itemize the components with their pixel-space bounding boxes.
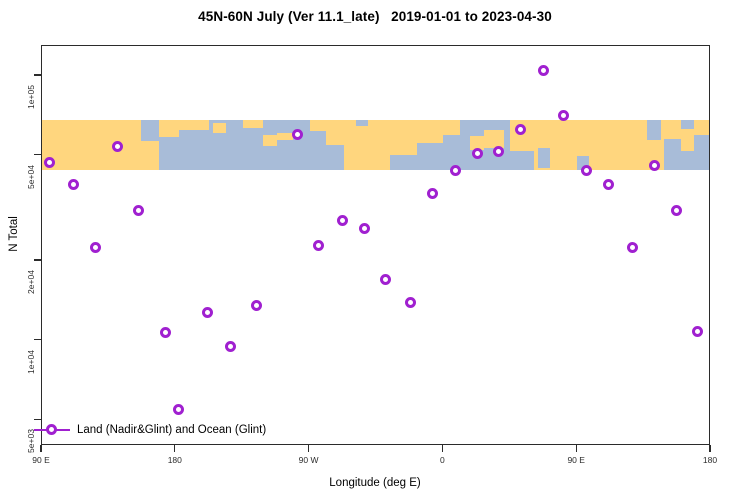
chart-root: 45N-60N July (Ver 11.1_late) 2019-01-01 … xyxy=(0,0,750,500)
data-point xyxy=(649,160,660,171)
map-land-mass xyxy=(326,120,344,145)
data-point xyxy=(493,146,504,157)
data-point xyxy=(558,110,569,121)
data-point xyxy=(515,124,526,135)
x-tick-label: 0 xyxy=(412,455,472,465)
data-point xyxy=(292,129,303,140)
map-ocean-inlet xyxy=(160,148,176,171)
x-tick-mark xyxy=(442,445,443,452)
data-point xyxy=(112,141,123,152)
x-axis-title: Longitude (deg E) xyxy=(0,477,750,489)
x-tick-mark xyxy=(40,445,41,452)
y-tick-label: 2e+04 xyxy=(26,259,36,305)
x-tick-label: 90 E xyxy=(11,455,71,465)
data-point xyxy=(671,205,682,216)
data-point xyxy=(68,179,79,190)
data-point xyxy=(313,240,324,251)
data-point xyxy=(450,165,461,176)
data-point xyxy=(603,179,614,190)
data-point xyxy=(337,215,348,226)
map-ocean-strip xyxy=(42,120,709,170)
x-tick-label: 180 xyxy=(680,455,740,465)
data-point xyxy=(44,157,55,168)
data-point xyxy=(405,297,416,308)
x-tick-mark xyxy=(576,445,577,452)
map-land-mass xyxy=(277,133,292,141)
map-land-mass xyxy=(484,130,504,148)
x-tick-mark xyxy=(174,445,175,452)
data-point xyxy=(90,242,101,253)
map-ocean-inlet xyxy=(356,120,367,126)
map-land-mass xyxy=(310,120,327,131)
map-ocean-inlet xyxy=(201,135,214,163)
data-point xyxy=(472,148,483,159)
map-land-mass xyxy=(159,120,179,137)
map-land-mass xyxy=(443,120,460,135)
map-land-mass xyxy=(681,129,694,151)
y-tick-label: 5e+04 xyxy=(26,154,36,200)
data-point xyxy=(427,188,438,199)
x-tick-label: 90 E xyxy=(546,455,606,465)
map-land-mass xyxy=(179,120,209,130)
data-point xyxy=(173,404,184,415)
legend: Land (Nadir&Glint) and Ocean (Glint) xyxy=(34,424,266,436)
map-land-mass xyxy=(534,120,664,170)
data-point xyxy=(380,274,391,285)
map-land-mass xyxy=(263,135,278,146)
data-point xyxy=(627,242,638,253)
map-land-mass xyxy=(42,120,141,170)
map-land-mass xyxy=(390,120,417,155)
x-tick-mark xyxy=(709,445,710,452)
map-land-mass xyxy=(664,120,681,139)
data-point xyxy=(202,307,213,318)
legend-label: Land (Nadir&Glint) and Ocean (Glint) xyxy=(77,424,266,436)
data-point xyxy=(133,205,144,216)
map-ocean-inlet xyxy=(538,148,550,168)
legend-marker-icon xyxy=(34,424,70,436)
world-map-band xyxy=(42,46,709,444)
map-land-mass xyxy=(213,123,226,134)
data-point xyxy=(160,327,171,338)
x-tick-mark xyxy=(308,445,309,452)
x-tick-label: 180 xyxy=(145,455,205,465)
data-point xyxy=(225,341,236,352)
map-land-mass xyxy=(141,141,159,170)
map-land-mass xyxy=(344,120,389,170)
map-land-mass xyxy=(417,120,444,143)
map-land-mass xyxy=(694,120,709,135)
y-tick-label: 1e+04 xyxy=(26,339,36,385)
y-tick-label: 1e+05 xyxy=(26,74,36,120)
data-point xyxy=(251,300,262,311)
data-point xyxy=(581,165,592,176)
plot-area xyxy=(41,45,710,445)
data-point xyxy=(538,65,549,76)
data-point xyxy=(692,326,703,337)
map-land-mass xyxy=(243,120,263,128)
x-tick-label: 90 W xyxy=(279,455,339,465)
page-title: 45N-60N July (Ver 11.1_late) 2019-01-01 … xyxy=(0,9,750,24)
data-point xyxy=(359,223,370,234)
map-ocean-inlet xyxy=(647,120,660,140)
y-axis-title: N Total xyxy=(8,194,20,274)
